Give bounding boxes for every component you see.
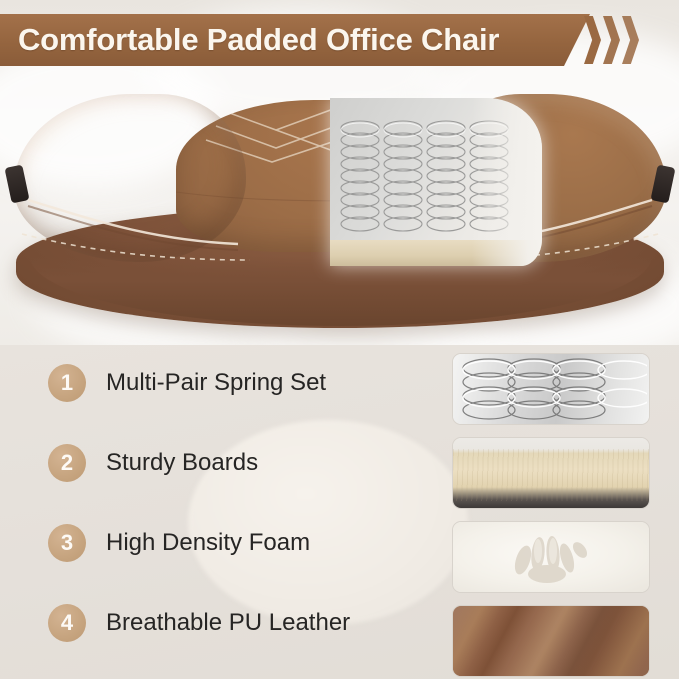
chevron-right-icon: [584, 16, 601, 64]
memory-foam-thumbnail: [452, 521, 650, 593]
header-banner: Comfortable Padded Office Chair: [0, 14, 679, 66]
chevron-arrows: [584, 16, 639, 64]
coil-springs-icon: [455, 356, 647, 422]
wood-board-thumbnail: [452, 437, 650, 509]
feature-label: Breathable PU Leather: [106, 609, 350, 637]
feature-number-badge: 1: [48, 364, 86, 402]
feature-number-badge: 4: [48, 604, 86, 642]
feature-label: Multi-Pair Spring Set: [106, 369, 326, 397]
feature-label: Sturdy Boards: [106, 449, 258, 477]
list-item: 4 Breathable PU Leather: [48, 603, 428, 643]
list-item: 2 Sturdy Boards: [48, 443, 428, 483]
pu-leather-image: [453, 606, 649, 676]
pu-leather-thumbnail: [452, 605, 650, 677]
product-infographic: Comfortable Padded Office Chair 1 Multi-…: [0, 0, 679, 679]
chair-seat-illustration: [8, 88, 672, 333]
hand-imprint-icon: [507, 530, 597, 586]
chevron-right-icon: [622, 16, 639, 64]
feature-number-badge: 2: [48, 444, 86, 482]
springs-thumbnail: [452, 353, 650, 425]
chevron-right-icon: [603, 16, 620, 64]
feature-number-badge: 3: [48, 524, 86, 562]
list-item: 3 High Density Foam: [48, 523, 428, 563]
banner-bar: Comfortable Padded Office Chair: [0, 14, 590, 66]
features-section: 1 Multi-Pair Spring Set 2 Sturdy Boards …: [0, 345, 679, 679]
feature-list: 1 Multi-Pair Spring Set 2 Sturdy Boards …: [48, 363, 428, 643]
feature-label: High Density Foam: [106, 529, 310, 557]
cutaway-fade-overlay: [472, 98, 542, 266]
hero-product-image: Comfortable Padded Office Chair: [0, 0, 679, 345]
wood-board-image: [453, 438, 649, 508]
seat-base-front: [30, 256, 652, 326]
page-title: Comfortable Padded Office Chair: [18, 22, 499, 58]
spring-cutaway-window: [330, 98, 542, 266]
thumbnail-column: [452, 353, 648, 677]
list-item: 1 Multi-Pair Spring Set: [48, 363, 428, 403]
memory-foam-image: [453, 522, 649, 592]
springs-image: [453, 354, 649, 424]
left-bolster: [14, 94, 246, 262]
